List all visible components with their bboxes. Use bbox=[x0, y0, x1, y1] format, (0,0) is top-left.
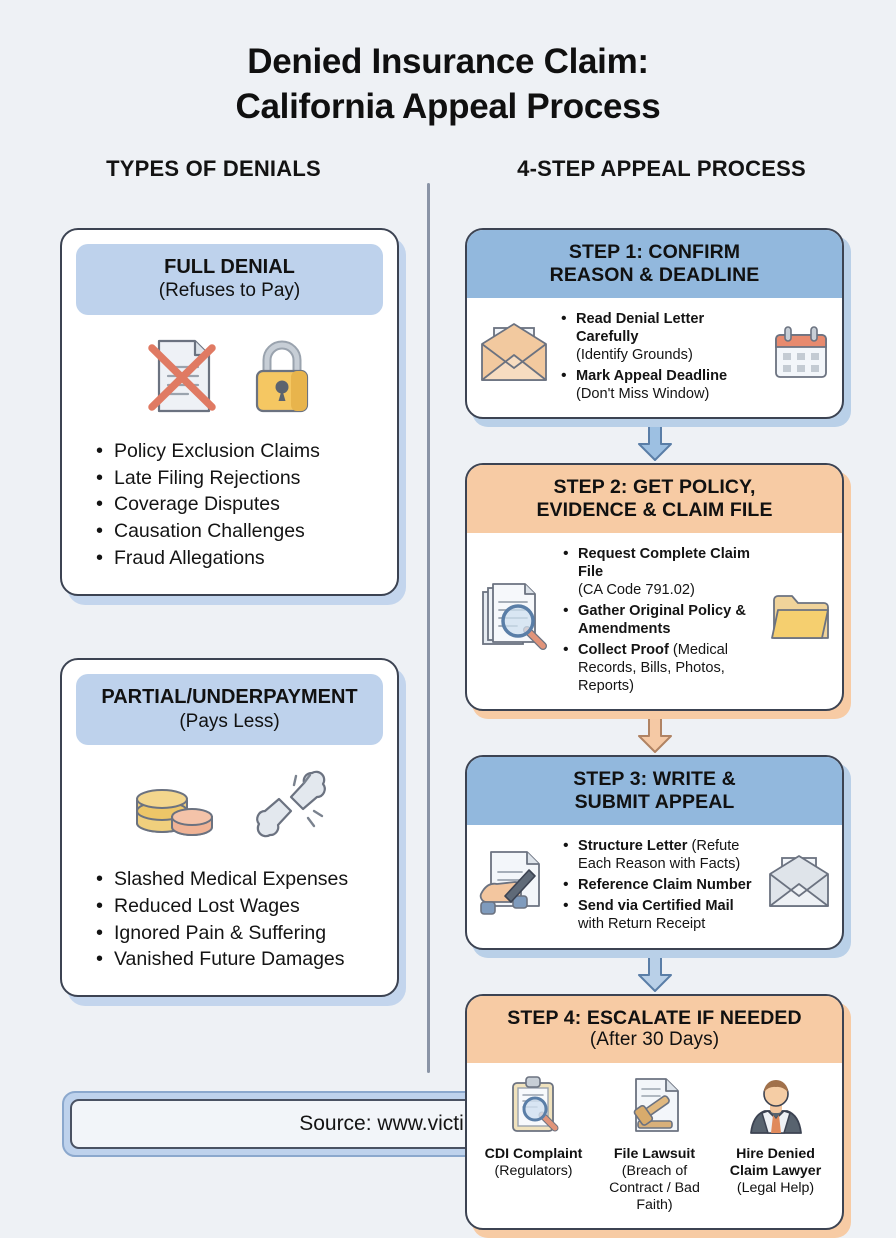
full-denial-title: FULL DENIAL bbox=[164, 256, 295, 278]
option-sublabel: (Legal Help) bbox=[717, 1180, 834, 1197]
page-title-line1: Denied Insurance Claim: bbox=[0, 40, 896, 85]
step-1-title-line2: REASON & DEADLINE bbox=[550, 264, 760, 286]
page-title-line2: California Appeal Process bbox=[0, 85, 896, 130]
step-1-card: STEP 1: CONFIRM REASON & DEADLINE bbox=[465, 228, 844, 419]
step-4-card: STEP 4: ESCALATE IF NEEDED (After 30 Day… bbox=[465, 994, 844, 1230]
step-4-header: STEP 4: ESCALATE IF NEEDED (After 30 Day… bbox=[467, 996, 842, 1063]
bullet-bold: Reference Claim Number bbox=[578, 877, 752, 893]
bullet-bold: Send via Certified Mail bbox=[578, 898, 734, 914]
escalation-option-cdi-complaint[interactable]: CDI Complaint (Regulators) bbox=[475, 1075, 592, 1180]
bullet-bold: Gather Original Policy & Amendments bbox=[578, 603, 746, 637]
column-headings: TYPES OF DENIALS 4-STEP APPEAL PROCESS bbox=[0, 156, 896, 182]
list-item: Send via Certified Mail with Return Rece… bbox=[561, 897, 758, 933]
list-item: Fraud Allegations bbox=[96, 545, 397, 572]
step-3-bullets: Structure Letter (Refute Each Reason wit… bbox=[561, 837, 758, 933]
step-2-bullets: Request Complete Claim File(CA Code 791.… bbox=[561, 545, 762, 696]
list-item: Read Denial Letter Carefully(Identify Gr… bbox=[559, 310, 762, 364]
step-4-title-line2: (After 30 Days) bbox=[477, 1029, 832, 1051]
list-item: Collect Proof (Medical Records, Bills, P… bbox=[561, 641, 762, 695]
partial-underpayment-list: Slashed Medical Expenses Reduced Lost Wa… bbox=[62, 862, 397, 996]
step-1-header: STEP 1: CONFIRM REASON & DEADLINE bbox=[467, 230, 842, 298]
step-2-title-line2: EVIDENCE & CLAIM FILE bbox=[536, 499, 772, 521]
list-item: Reduced Lost Wages bbox=[96, 893, 397, 920]
partial-underpayment-card: PARTIAL/UNDERPAYMENT (Pays Less) bbox=[60, 658, 399, 997]
full-denial-list: Policy Exclusion Claims Late Filing Reje… bbox=[62, 434, 397, 595]
right-column-heading: 4-STEP APPEAL PROCESS bbox=[427, 156, 896, 182]
step-4-options: CDI Complaint (Regulators) bbox=[467, 1063, 842, 1228]
bullet-bold: Collect Proof bbox=[578, 642, 669, 658]
option-sublabel: (Regulators) bbox=[475, 1163, 592, 1180]
step-1-title-line1: STEP 1: CONFIRM bbox=[569, 241, 740, 263]
step-2-header: STEP 2: GET POLICY, EVIDENCE & CLAIM FIL… bbox=[467, 465, 842, 533]
bullet-bold: Read Denial Letter Carefully bbox=[576, 311, 704, 345]
step-2-card: STEP 2: GET POLICY, EVIDENCE & CLAIM FIL… bbox=[465, 463, 844, 711]
bullet-rest: with Return Receipt bbox=[578, 916, 705, 932]
padlock-icon bbox=[247, 333, 317, 424]
crossed-out-document-icon bbox=[143, 333, 221, 424]
step-2-title-line1: STEP 2: GET POLICY, bbox=[553, 476, 755, 498]
bullet-rest: (Identify Grounds) bbox=[576, 347, 693, 363]
bullet-rest: (CA Code 791.02) bbox=[578, 582, 695, 598]
step-4-title-line1: STEP 4: ESCALATE IF NEEDED bbox=[507, 1007, 801, 1029]
list-item: Late Filing Rejections bbox=[96, 465, 397, 492]
step-3-title-line1: STEP 3: WRITE & bbox=[573, 768, 736, 790]
escalation-option-file-lawsuit[interactable]: File Lawsuit (Breach of Contract / Bad F… bbox=[596, 1075, 713, 1214]
partial-underpayment-header: PARTIAL/UNDERPAYMENT (Pays Less) bbox=[76, 674, 383, 745]
list-item: Mark Appeal Deadline(Don't Miss Window) bbox=[559, 367, 762, 403]
partial-underpayment-icons bbox=[62, 745, 397, 862]
list-item: Structure Letter (Refute Each Reason wit… bbox=[561, 837, 758, 873]
bullet-rest: (Don't Miss Window) bbox=[576, 386, 709, 402]
envelope-icon bbox=[766, 854, 832, 917]
list-item: Ignored Pain & Suffering bbox=[96, 920, 397, 947]
clipboard-magnifier-icon bbox=[505, 1122, 563, 1139]
full-denial-subtitle: (Refuses to Pay) bbox=[82, 280, 377, 302]
list-item: Causation Challenges bbox=[96, 518, 397, 545]
list-item: Vanished Future Damages bbox=[96, 946, 397, 973]
hand-writing-letter-icon bbox=[477, 848, 553, 923]
lawyer-avatar-icon bbox=[747, 1122, 805, 1139]
full-denial-icons bbox=[62, 315, 397, 434]
open-envelope-icon bbox=[477, 322, 551, 391]
full-denial-card: FULL DENIAL (Refuses to Pay) bbox=[60, 228, 399, 596]
option-label: File Lawsuit bbox=[596, 1146, 713, 1163]
broken-bone-icon bbox=[246, 763, 332, 852]
list-item: Slashed Medical Expenses bbox=[96, 866, 397, 893]
escalation-option-hire-lawyer[interactable]: Hire Denied Claim Lawyer (Legal Help) bbox=[717, 1075, 834, 1197]
folder-icon bbox=[770, 590, 832, 651]
left-column-heading: TYPES OF DENIALS bbox=[0, 156, 427, 182]
appeal-process-column: STEP 1: CONFIRM REASON & DEADLINE bbox=[427, 228, 896, 1230]
option-label: CDI Complaint bbox=[475, 1146, 592, 1163]
coin-stack-icon bbox=[128, 765, 220, 850]
step-3-title-line2: SUBMIT APPEAL bbox=[575, 791, 735, 813]
page-title: Denied Insurance Claim: California Appea… bbox=[0, 0, 896, 130]
list-item: Request Complete Claim File(CA Code 791.… bbox=[561, 545, 762, 599]
calendar-icon bbox=[770, 323, 832, 390]
documents-magnifier-icon bbox=[477, 580, 553, 661]
option-sublabel: (Breach of Contract / Bad Faith) bbox=[596, 1163, 713, 1214]
step-3-header: STEP 3: WRITE & SUBMIT APPEAL bbox=[467, 757, 842, 825]
main-content: FULL DENIAL (Refuses to Pay) bbox=[0, 228, 896, 1230]
list-item: Coverage Disputes bbox=[96, 491, 397, 518]
list-item: Policy Exclusion Claims bbox=[96, 438, 397, 465]
bullet-bold: Mark Appeal Deadline bbox=[576, 368, 727, 384]
partial-underpayment-title: PARTIAL/UNDERPAYMENT bbox=[101, 686, 357, 708]
bullet-bold: Structure Letter bbox=[578, 838, 687, 854]
full-denial-header: FULL DENIAL (Refuses to Pay) bbox=[76, 244, 383, 315]
list-item: Gather Original Policy & Amendments bbox=[561, 602, 762, 638]
step-3-card: STEP 3: WRITE & SUBMIT APPEAL bbox=[465, 755, 844, 949]
bullet-bold: Request Complete Claim File bbox=[578, 546, 750, 580]
gavel-document-icon bbox=[624, 1122, 686, 1139]
option-label: Hire Denied Claim Lawyer bbox=[717, 1146, 834, 1180]
partial-underpayment-subtitle: (Pays Less) bbox=[82, 711, 377, 733]
step-1-bullets: Read Denial Letter Carefully(Identify Gr… bbox=[559, 310, 762, 403]
list-item: Reference Claim Number bbox=[561, 876, 758, 894]
types-of-denials-column: FULL DENIAL (Refuses to Pay) bbox=[0, 228, 427, 1230]
